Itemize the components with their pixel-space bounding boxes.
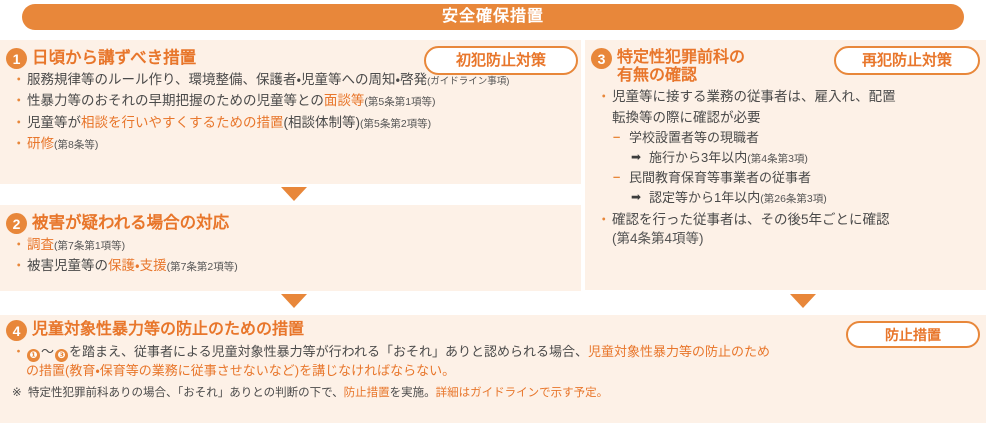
section-3-bullet1-continuation: 転換等の際に確認が必要 [593, 108, 980, 128]
list-item: 児童等が相談を行いやすくするための措置(相談体制等)(第5条第2項等) [8, 113, 575, 133]
section-4-title: 児童対象性暴力等の防止のための措置 [32, 320, 304, 339]
section-4-number: 4 [6, 320, 27, 341]
section-3-bullet2-ref: (第4条第4項等) [593, 231, 980, 247]
section-3-sub1-ref: (第4条第3項) [747, 153, 808, 165]
section-2-number: 2 [6, 213, 27, 234]
section-4-note: 特定性犯罪前科ありの場合、「おそれ」ありとの判断の下で、防止措置を実施。詳細はガ… [10, 385, 978, 401]
section-3-title-line1: 特定性犯罪前科の [617, 49, 745, 66]
section-3-body: 児童等に接する業務の従事者は、雇入れ、配置 転換等の際に確認が必要 学校設置者等… [585, 86, 986, 247]
right-arrow-icon-item-1: 施行から3年以内(第4条第3項) [631, 149, 980, 168]
section-3-sub2-ref: (第26条第3項) [760, 193, 827, 205]
dash-icon-item-2: 民間教育保育等事業者の従事者 [613, 169, 980, 188]
badge-prevention-measures: 防止措置 [846, 321, 980, 348]
list-item: 被害児童等の保護・支援(第7条第2項等) [8, 256, 575, 276]
section-3-number: 3 [591, 48, 612, 69]
badge-first-offense-prevention: 初犯防止対策 [424, 46, 578, 75]
section-4-header: 4 児童対象性暴力等の防止のための措置 [0, 315, 986, 341]
section-3-panel: 3 特定性犯罪前科の 有無の確認 児童等に接する業務の従事者は、雇入れ、配置 転… [585, 40, 986, 290]
dash-icon-item-1: 学校設置者等の現職者 [613, 129, 980, 148]
diagram-root: 安全確保措置 1 日頃から講ずべき措置 服務規律等のルール作り、環境整備、保護者… [0, 0, 986, 425]
section-3-sub2-label: 民間教育保育等事業者の従事者 [629, 170, 811, 185]
section-4-body: ❶～❸を踏まえ、従事者による児童対象性暴力等が行われる「おそれ」ありと認められる… [0, 341, 986, 401]
badge-recidivism-prevention: 再犯防止対策 [834, 46, 980, 75]
section-2-title: 被害が疑われる場合の対応 [32, 213, 229, 232]
header-bar: 安全確保措置 [22, 4, 964, 30]
section-3-list-2: 確認を行った従事者は、その後5年ごとに確認 [593, 210, 980, 230]
down-arrow-icon [281, 294, 307, 308]
section-4-main-line: ❶～❸を踏まえ、従事者による児童対象性暴力等が行われる「おそれ」ありと認められる… [10, 343, 978, 362]
section-2-body: 調査(第7条第1項等) 被害児童等の保護・支援(第7条第2項等) [0, 234, 581, 277]
section-1-body: 服務規律等のルール作り、環境整備、保護者・児童等への周知・啓発(ガイドライン事項… [0, 69, 581, 154]
list-item: 性暴力等のおそれの早期把握のための児童等との面談等(第5条第1項等) [8, 91, 575, 111]
section-2-list: 調査(第7条第1項等) 被害児童等の保護・支援(第7条第2項等) [8, 235, 575, 277]
list-item: 研修(第8条等) [8, 134, 575, 154]
section-3-list: 児童等に接する業務の従事者は、雇入れ、配置 [593, 87, 980, 107]
section-4-panel: 4 児童対象性暴力等の防止のための措置 ❶～❸を踏まえ、従事者による児童対象性暴… [0, 315, 986, 423]
down-arrow-icon [281, 187, 307, 201]
section-2-panel: 2 被害が疑われる場合の対応 調査(第7条第1項等) 被害児童等の保護・支援(第… [0, 205, 581, 291]
section-1-list: 服務規律等のルール作り、環境整備、保護者・児童等への周知・啓発(ガイドライン事項… [8, 70, 575, 154]
section-3-title-line2: 有無の確認 [617, 67, 697, 84]
list-item: 調査(第7条第1項等) [8, 235, 575, 255]
page-title: 安全確保措置 [442, 9, 544, 25]
section-3-sub2-value: 認定等から1年以内 [649, 190, 760, 205]
section-1-number: 1 [6, 48, 27, 69]
section-3-sub1-value: 施行から3年以内 [649, 150, 747, 165]
right-arrow-icon-item-2: 認定等から1年以内(第26条第3項) [631, 189, 980, 208]
down-arrow-icon [790, 294, 816, 308]
section-2-header: 2 被害が疑われる場合の対応 [0, 205, 581, 234]
section-1-title: 日頃から講ずべき措置 [32, 48, 196, 67]
list-item: 確認を行った従事者は、その後5年ごとに確認 [593, 210, 980, 230]
section-3-sub1-label: 学校設置者等の現職者 [629, 130, 759, 145]
list-item: 児童等に接する業務の従事者は、雇入れ、配置 [593, 87, 980, 107]
section-4-main-line-continuation: の措置(教育・保育等の業務に従事させないなど)を講じなければならない。 [10, 362, 978, 381]
inline-number-1: ❶ [27, 349, 40, 362]
section-3-title: 特定性犯罪前科の 有無の確認 [617, 48, 745, 86]
inline-number-3: ❸ [55, 349, 68, 362]
